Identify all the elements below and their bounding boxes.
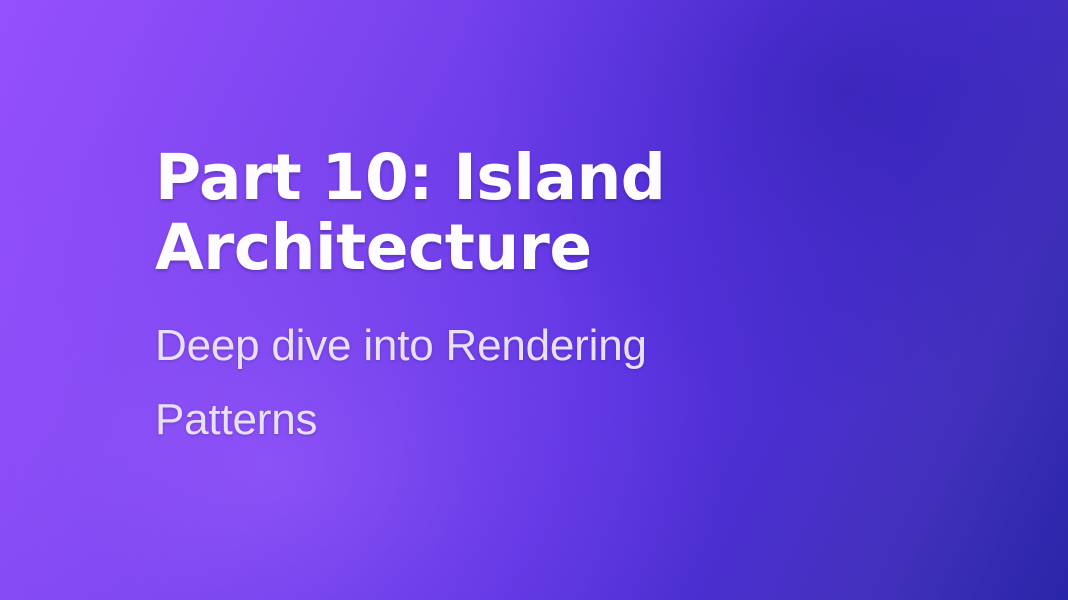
- page-title: Part 10: Island Architecture: [155, 143, 810, 283]
- title-slide: Part 10: Island Architecture Deep dive i…: [0, 0, 1068, 600]
- slide-text-block: Part 10: Island Architecture Deep dive i…: [155, 143, 810, 457]
- slide-subtitle: Deep dive into Rendering Patterns: [155, 309, 810, 457]
